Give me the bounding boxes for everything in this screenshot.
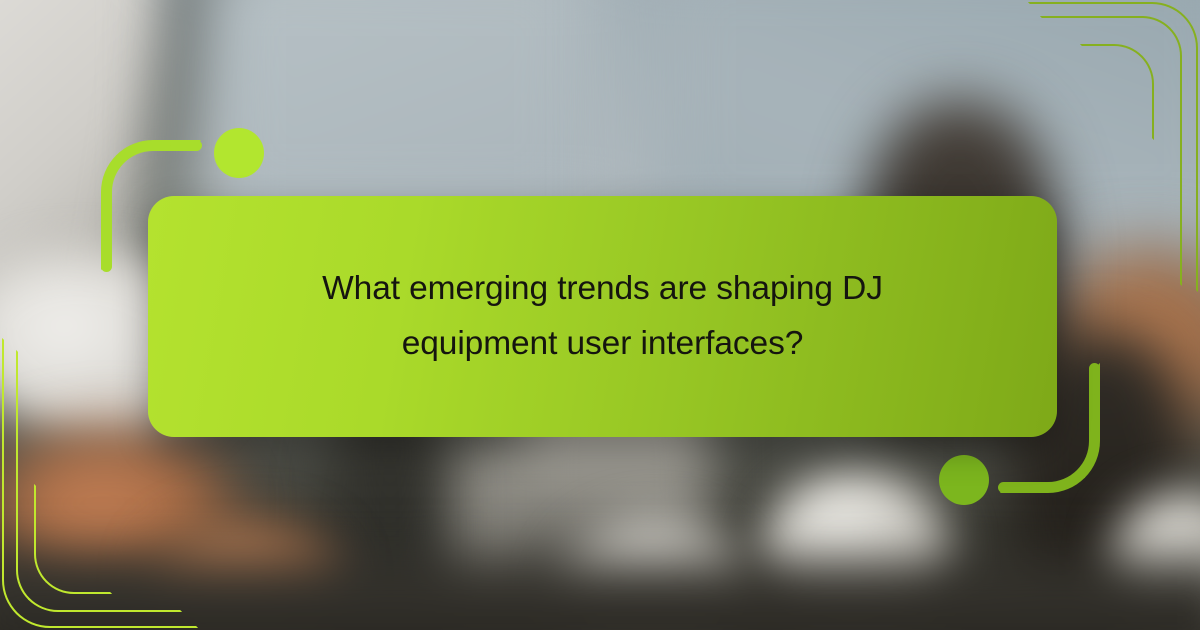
- bracket-cap-horizontal: [998, 482, 1030, 493]
- accent-dot-bottom-right: [939, 455, 989, 505]
- question-text: What emerging trends are shaping DJ equi…: [273, 262, 933, 371]
- bracket-cap-vertical: [101, 240, 112, 272]
- arc-inner: [1080, 44, 1154, 140]
- accent-dot-top-left: [214, 128, 264, 178]
- slide-canvas: What emerging trends are shaping DJ equi…: [0, 0, 1200, 630]
- bracket-cap-vertical: [1089, 363, 1100, 395]
- bracket-cap-horizontal: [170, 140, 202, 151]
- arc-inner: [34, 484, 112, 594]
- question-card: What emerging trends are shaping DJ equi…: [148, 196, 1057, 437]
